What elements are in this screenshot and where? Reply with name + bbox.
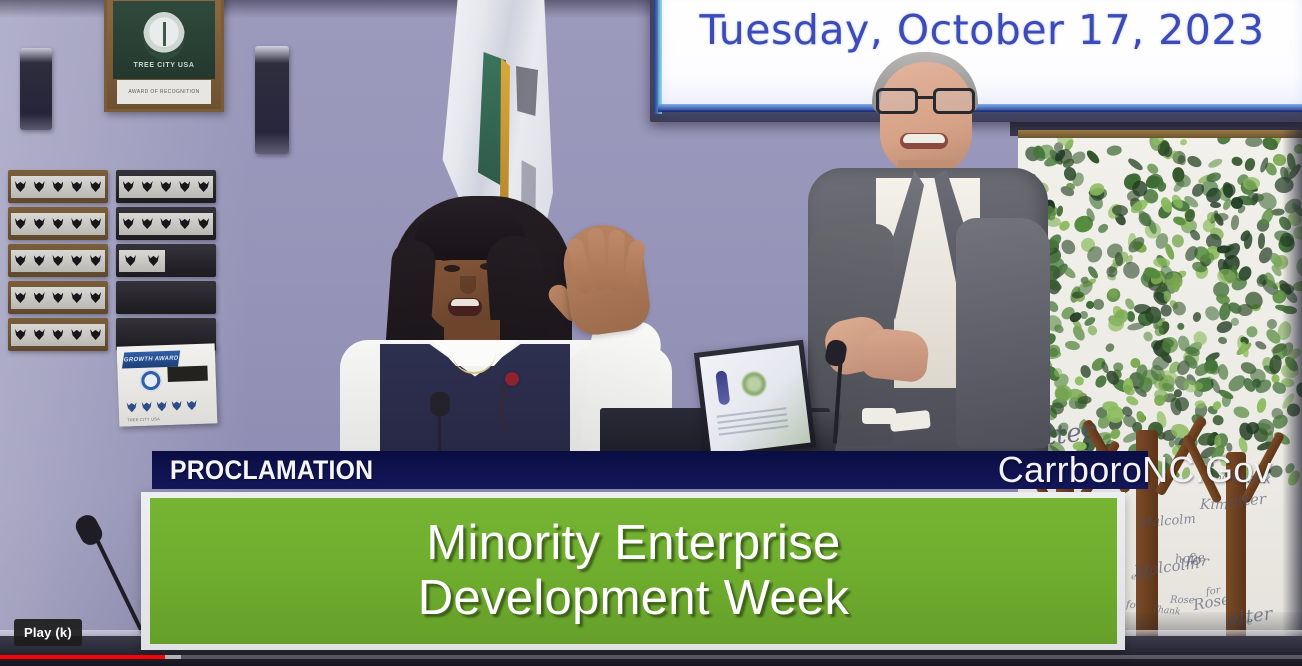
award-emblem-icon <box>198 218 209 229</box>
award-emblem-icon <box>90 181 101 192</box>
video-progress-played[interactable] <box>0 655 165 659</box>
play-button-tooltip: Play (k) <box>14 619 82 646</box>
projector-screen-bottom-glow <box>658 104 1302 112</box>
tree-city-usa-plaque: TREE CITY USA AWARD OF RECOGNITION <box>104 0 224 112</box>
award-emblem-icon <box>15 218 26 229</box>
award-emblem-icon <box>90 292 101 303</box>
growth-award-certificate: GROWTH AWARD TREE CITY USA <box>117 343 218 426</box>
award-emblem-icon <box>157 401 167 411</box>
mural-leaf <box>1194 400 1205 408</box>
mural-signature: etter <box>1228 490 1266 510</box>
award-emblem-icon <box>148 255 159 266</box>
mural-leaf <box>1232 405 1251 420</box>
tree-city-plaque-plate: AWARD OF RECOGNITION <box>117 80 211 104</box>
plaque-row <box>8 318 108 351</box>
mural-leaf <box>1255 398 1267 415</box>
award-emblem-icon <box>71 218 82 229</box>
plaque-row <box>116 170 216 203</box>
official-arm-right <box>956 218 1050 448</box>
mural-leaf <box>1253 339 1267 351</box>
video-progress-track[interactable] <box>0 655 1302 659</box>
award-emblem-icon <box>52 329 63 340</box>
lower-third-headline-line2: Development Week <box>418 571 850 626</box>
plaque-row <box>8 281 108 314</box>
mural-leaf <box>1230 214 1239 230</box>
mural-signature: for <box>1126 600 1141 612</box>
official-teeth <box>903 134 945 143</box>
plaque-column-left <box>8 170 108 355</box>
mural-leaf <box>1156 181 1168 194</box>
proclamation-seal-icon <box>740 370 769 399</box>
award-emblem-icon <box>52 181 63 192</box>
presenter-nose <box>460 276 476 294</box>
award-emblem-icon <box>71 255 82 266</box>
mural-leaf <box>1188 228 1202 242</box>
podium-microphone-stem <box>438 412 441 452</box>
mural-leaf <box>1060 264 1077 280</box>
award-emblem-icon <box>34 181 45 192</box>
mural-leaf <box>1078 396 1092 404</box>
mural-leaf <box>1164 291 1171 302</box>
official-face <box>880 62 972 174</box>
mural-leaf <box>1185 154 1203 170</box>
award-emblem-icon <box>127 402 137 412</box>
award-emblem-icon <box>179 181 190 192</box>
award-emblem-icon <box>52 292 63 303</box>
award-emblem-icon <box>172 401 182 411</box>
award-emblem-icon <box>123 181 134 192</box>
mural-leaf <box>1100 361 1110 374</box>
award-emblem-icon <box>125 255 136 266</box>
award-emblem-icon <box>142 402 152 412</box>
mural-leaf <box>1192 311 1202 323</box>
lower-third-green-panel: Minority Enterprise Development Week <box>150 498 1117 644</box>
tree-city-plaque-title: TREE CITY USA <box>134 62 195 69</box>
tree-city-plaque-face: TREE CITY USA <box>113 1 215 79</box>
award-emblem-icon <box>34 218 45 229</box>
certificate-caption: TREE CITY USA <box>127 416 160 422</box>
plaque-row <box>116 244 216 277</box>
award-emblem-icon <box>71 329 82 340</box>
plaque-row <box>116 207 216 240</box>
mural-leaf <box>1114 362 1124 371</box>
mural-leaf <box>1207 157 1223 169</box>
official-hand-right <box>860 327 931 384</box>
mural-leaf <box>1244 157 1257 172</box>
award-emblem-icon <box>90 218 101 229</box>
plaque-row <box>8 207 108 240</box>
proclamation-text-lines <box>717 407 789 439</box>
award-plaque-grid <box>8 170 223 360</box>
mural-leaf <box>1086 264 1100 280</box>
plaque-column-right <box>116 170 216 355</box>
plaque-row <box>116 281 216 314</box>
mural-right-shadow <box>1282 130 1302 666</box>
lower-third-website: CarrboroNC.Gov <box>179 449 1302 491</box>
award-emblem-icon <box>160 181 171 192</box>
mural-leaf <box>1177 322 1185 330</box>
mural-leaf <box>1126 322 1145 332</box>
award-emblem-icon <box>71 181 82 192</box>
mural-leaf <box>1217 363 1230 381</box>
award-emblem-icon <box>34 329 45 340</box>
mural-signature: Kim <box>1200 496 1229 513</box>
eyeglasses-icon <box>876 88 978 114</box>
award-emblem-icon <box>142 181 153 192</box>
mural-leaf <box>1106 145 1122 156</box>
certificate-name-plate <box>167 366 207 382</box>
mural-leaf <box>1084 148 1101 165</box>
proclamation-ribbon <box>715 370 730 405</box>
mural-signature: Rose <box>1170 594 1195 605</box>
proclamation-paper <box>699 345 810 454</box>
wall-fixture-right <box>255 46 289 154</box>
award-emblem-icon <box>123 218 134 229</box>
mural-signature: Malcolm <box>1139 512 1197 531</box>
presenter-teeth <box>451 299 479 306</box>
mural-leaf <box>1104 342 1116 354</box>
certificate-emblem-row <box>127 400 197 412</box>
award-emblem-icon <box>52 255 63 266</box>
mural-leaf <box>1212 414 1225 426</box>
flag-dark-patch <box>516 66 538 116</box>
lower-third-headline-line1: Minority Enterprise <box>426 516 840 571</box>
mural-leaf <box>1231 156 1243 167</box>
mural-leaf <box>1096 222 1110 235</box>
award-emblem-icon <box>52 218 63 229</box>
award-emblem-icon <box>90 329 101 340</box>
framed-proclamation <box>694 340 816 461</box>
certificate-seal-icon <box>139 369 162 392</box>
mural-leaf <box>1127 157 1145 173</box>
award-emblem-icon <box>34 292 45 303</box>
award-emblem-icon <box>15 292 26 303</box>
award-emblem-icon <box>142 218 153 229</box>
award-emblem-icon <box>187 400 197 410</box>
award-emblem-icon <box>15 255 26 266</box>
mural-leaf <box>1218 336 1229 345</box>
mural-leaf <box>1065 340 1081 351</box>
award-emblem-icon <box>160 218 171 229</box>
slide-date-text: Tuesday, October 17, 2023 <box>658 6 1302 54</box>
mural-leaf <box>1171 233 1185 248</box>
mural-top-rail <box>1018 130 1302 138</box>
award-emblem-icon <box>90 255 101 266</box>
award-emblem-icon <box>15 329 26 340</box>
video-player-stage: Tuesday, October 17, 2023 TREE CITY USA … <box>0 0 1302 666</box>
plaque-row <box>8 170 108 203</box>
mural-leaf <box>1059 236 1078 256</box>
award-emblem-icon <box>15 181 26 192</box>
mural-leaf <box>1173 279 1181 292</box>
award-emblem-icon <box>179 218 190 229</box>
mural-leaf <box>1093 299 1105 311</box>
award-emblem-icon <box>71 292 82 303</box>
mural-leaf <box>1210 201 1221 207</box>
mural-leaf <box>1161 304 1172 316</box>
mural-leaf <box>1055 385 1072 402</box>
mural-leaf <box>1179 138 1188 147</box>
tree-icon <box>143 12 185 60</box>
award-emblem-icon <box>34 255 45 266</box>
award-emblem-icon <box>198 181 209 192</box>
presenter-eye-left <box>444 265 460 272</box>
mural-leaf <box>1102 401 1118 412</box>
wall-fixture-left <box>20 48 52 130</box>
plaque-row <box>8 244 108 277</box>
mural-leaf <box>1209 377 1222 394</box>
